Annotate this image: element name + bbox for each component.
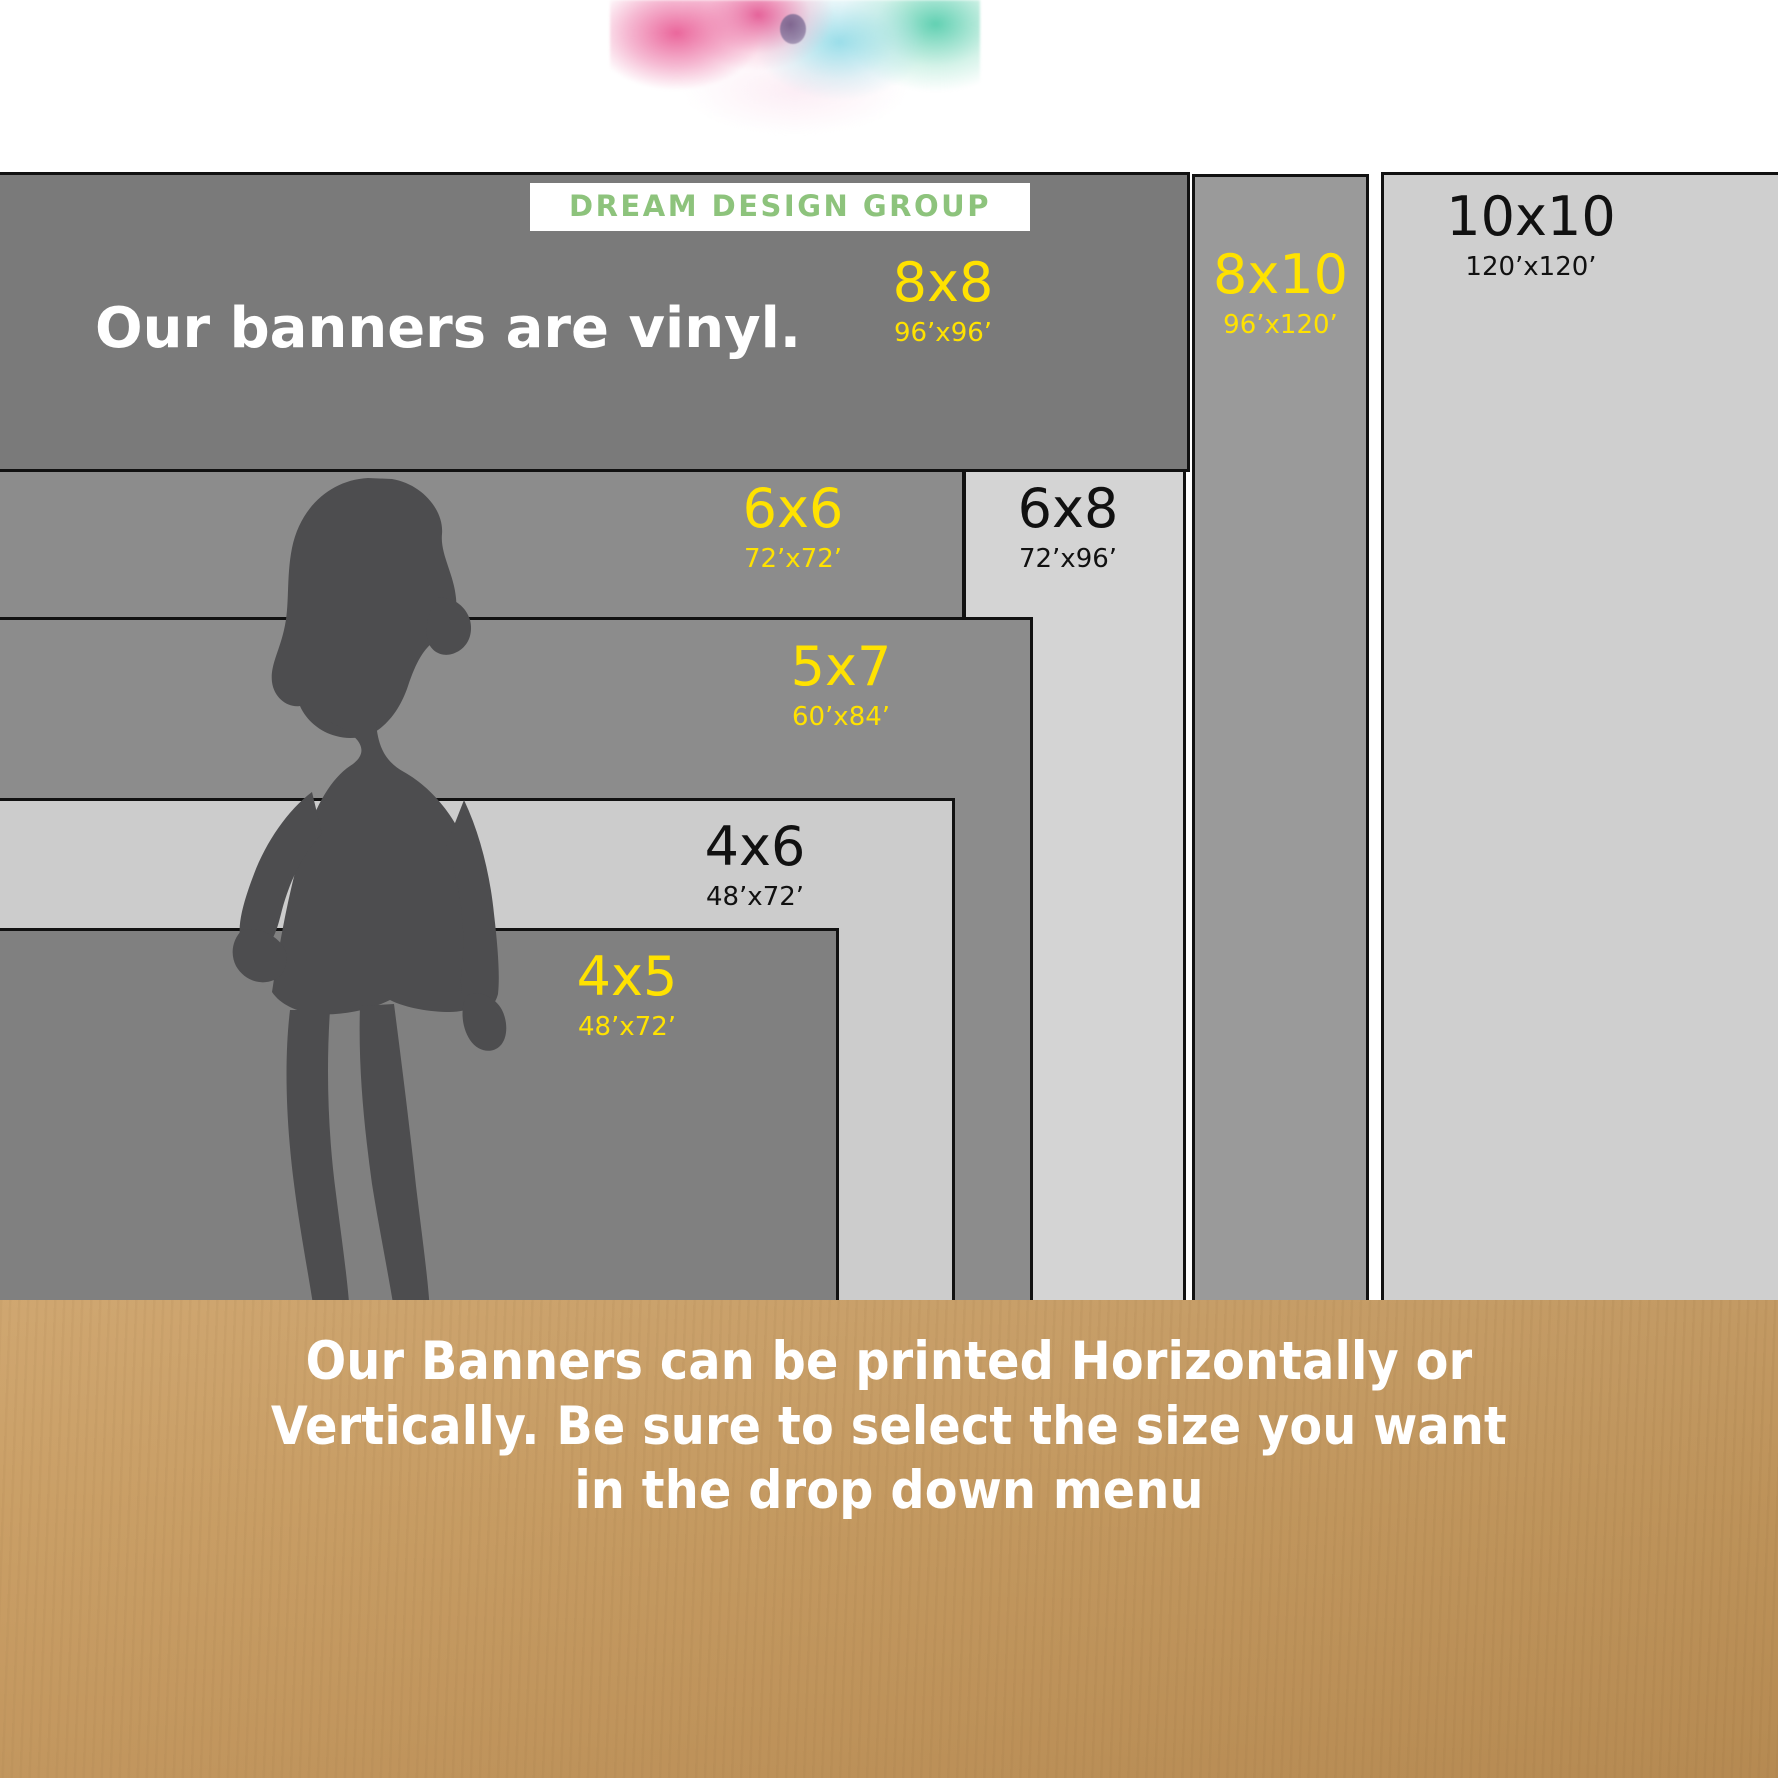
banner-label-6x8: 6x8 72’x96’ bbox=[963, 482, 1173, 572]
banner-size-6x8: 6x8 bbox=[963, 482, 1173, 536]
banner-dimensions-8x10: 96’x120’ bbox=[1192, 312, 1369, 338]
banner-label-4x5: 4x5 48’x72’ bbox=[512, 950, 742, 1040]
banner-size-6x6: 6x6 bbox=[678, 482, 908, 536]
page-headline: Our banners are vinyl. bbox=[95, 296, 801, 361]
footer-line-1: Our Banners can be printed Horizontally … bbox=[0, 1330, 1778, 1395]
banner-dimensions-4x6: 48’x72’ bbox=[640, 884, 870, 910]
banner-size-8x8: 8x8 bbox=[828, 256, 1058, 310]
brand-name: DREAM DESIGN GROUP bbox=[530, 183, 1030, 231]
banner-label-5x7: 5x7 60’x84’ bbox=[726, 640, 956, 730]
banner-rect-8x10 bbox=[1192, 174, 1369, 1304]
banner-dimensions-5x7: 60’x84’ bbox=[726, 704, 956, 730]
logo-accent-dot-icon bbox=[780, 14, 806, 44]
footer-line-2: Vertically. Be sure to select the size y… bbox=[0, 1395, 1778, 1460]
banner-size-4x6: 4x6 bbox=[640, 820, 870, 874]
banner-label-8x8: 8x8 96’x96’ bbox=[828, 256, 1058, 346]
footer-caption: Our Banners can be printed Horizontally … bbox=[0, 1330, 1778, 1524]
banner-size-8x10: 8x10 bbox=[1192, 248, 1369, 302]
banner-size-comparison-infographic: 8x8 96’x96’ 8x10 96’x120’ 10x10 120’x120… bbox=[0, 0, 1778, 1778]
banner-dimensions-6x6: 72’x72’ bbox=[678, 546, 908, 572]
banner-label-4x6: 4x6 48’x72’ bbox=[640, 820, 870, 910]
banner-size-4x5: 4x5 bbox=[512, 950, 742, 1004]
banner-label-6x6: 6x6 72’x72’ bbox=[678, 482, 908, 572]
banner-rect-10x10 bbox=[1381, 172, 1778, 1304]
brand-logo: DREAM DESIGN GROUP bbox=[530, 0, 1030, 235]
banner-size-5x7: 5x7 bbox=[726, 640, 956, 694]
floor-background: Our Banners can be printed Horizontally … bbox=[0, 1300, 1778, 1778]
banner-dimensions-10x10: 120’x120’ bbox=[1386, 254, 1676, 280]
footer-line-3: in the drop down menu bbox=[0, 1459, 1778, 1524]
banner-dimensions-8x8: 96’x96’ bbox=[828, 320, 1058, 346]
woman-silhouette-icon bbox=[180, 470, 540, 1370]
banner-dimensions-4x5: 48’x72’ bbox=[512, 1014, 742, 1040]
banner-dimensions-6x8: 72’x96’ bbox=[963, 546, 1173, 572]
banner-label-10x10: 10x10 120’x120’ bbox=[1386, 190, 1676, 280]
banner-size-10x10: 10x10 bbox=[1386, 190, 1676, 244]
banner-label-8x10: 8x10 96’x120’ bbox=[1192, 248, 1369, 338]
